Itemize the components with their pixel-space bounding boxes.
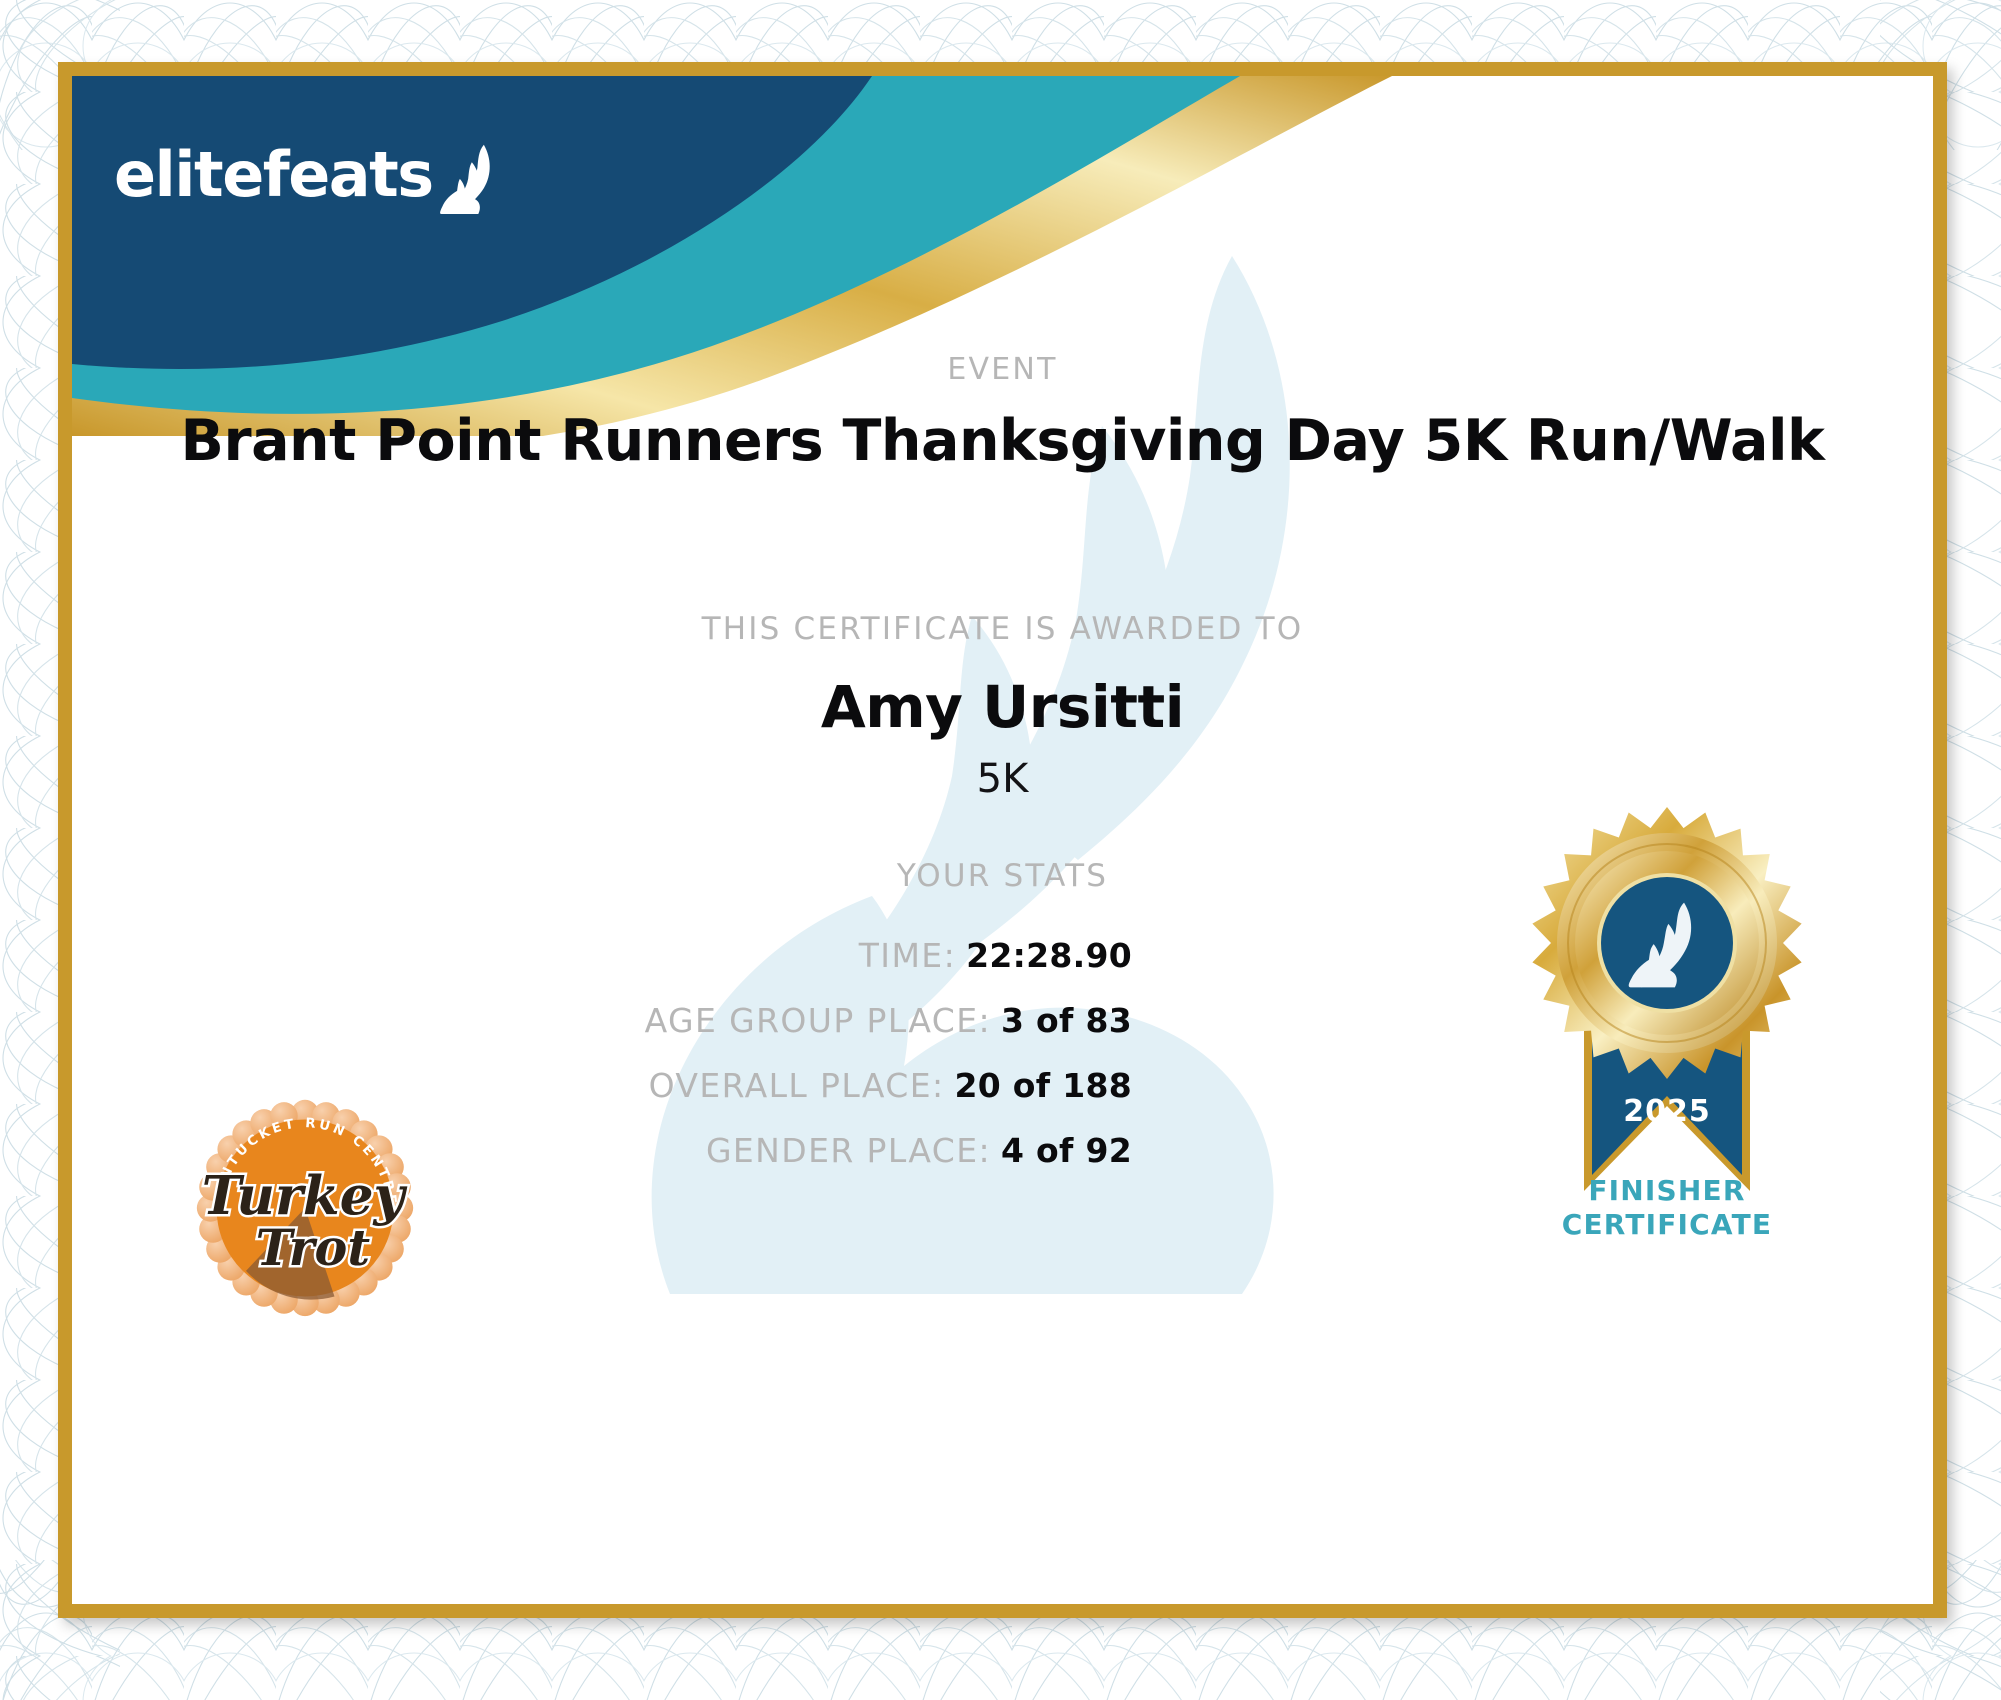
recipient-event-distance: 5K: [72, 756, 1933, 802]
stat-value: 22:28.90: [966, 936, 1132, 975]
stat-key: GENDER PLACE:: [706, 1131, 991, 1170]
svg-text:2025: 2025: [1623, 1094, 1711, 1129]
certificate-page: elitefeats EVENT Brant Point Runners Tha…: [0, 0, 2001, 1700]
recipient-name: Amy Ursitti: [72, 673, 1933, 741]
finisher-certificate-caption: FINISHER CERTIFICATE: [1492, 1174, 1842, 1242]
svg-text:Trot: Trot: [256, 1219, 371, 1277]
brand-wordmark: elitefeats: [114, 144, 433, 206]
certificate-card: elitefeats EVENT Brant Point Runners Tha…: [58, 62, 1947, 1618]
awarded-to-label: THIS CERTIFICATE IS AWARDED TO: [72, 611, 1933, 647]
stat-row-time: TIME: 22:28.90: [72, 936, 1132, 975]
medal-rosette: [1532, 807, 1801, 1079]
winged-foot-icon: [437, 142, 503, 214]
certificate-inner: elitefeats EVENT Brant Point Runners Tha…: [72, 76, 1933, 1604]
stat-row-age-group-place: AGE GROUP PLACE: 3 of 83: [72, 1001, 1132, 1040]
turkey-trot-badge: NANTUCKET RUN CENTRE Turkey Trot: [187, 1088, 423, 1324]
stat-key: TIME:: [859, 936, 956, 975]
event-label: EVENT: [72, 352, 1933, 387]
finisher-caption-line2: CERTIFICATE: [1492, 1208, 1842, 1242]
svg-text:Turkey: Turkey: [202, 1164, 408, 1227]
stat-value: 20 of 188: [954, 1066, 1132, 1105]
stat-key: AGE GROUP PLACE:: [645, 1001, 991, 1040]
stat-key: OVERALL PLACE:: [649, 1066, 945, 1105]
event-title: Brant Point Runners Thanksgiving Day 5K …: [72, 408, 1933, 474]
stat-value: 3 of 83: [1001, 1001, 1132, 1040]
elitefeats-logo: elitefeats: [114, 136, 503, 214]
finisher-caption-line1: FINISHER: [1492, 1174, 1842, 1208]
stat-value: 4 of 92: [1001, 1131, 1132, 1170]
